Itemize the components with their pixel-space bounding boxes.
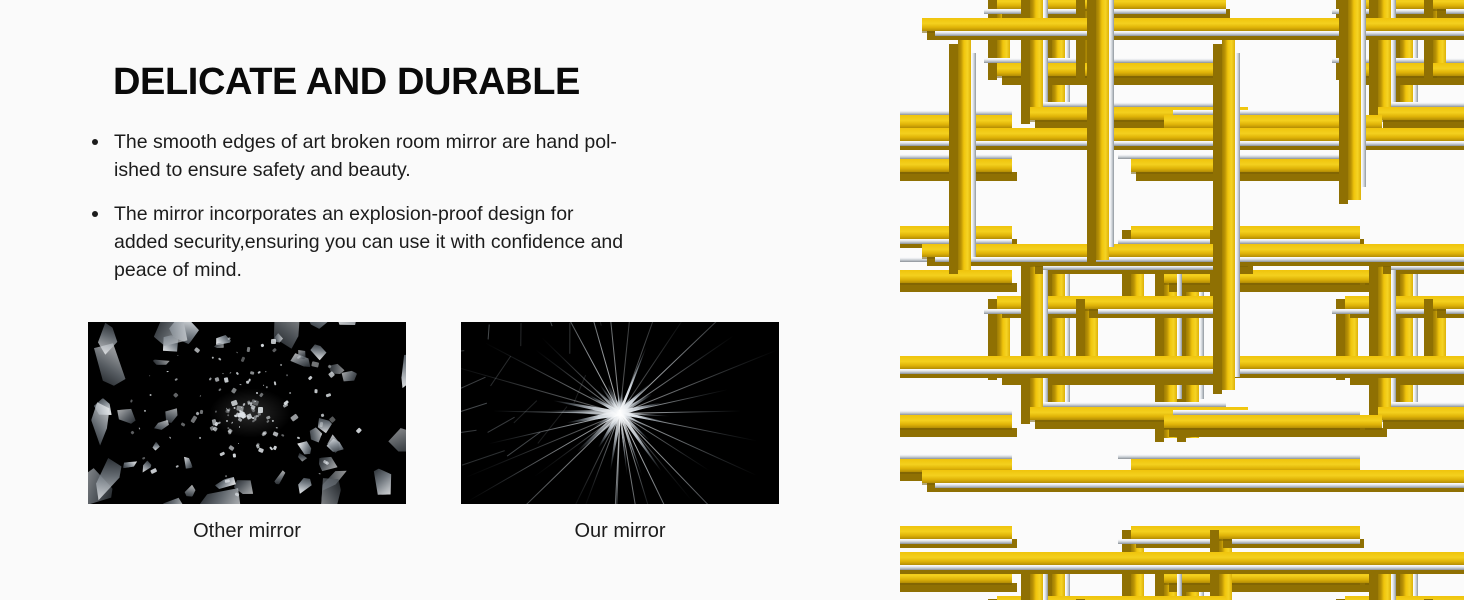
mirror-surface-horizontal (1177, 110, 1360, 115)
maze-bar-vertical (1348, 0, 1361, 200)
maze-bar-horizontal (1433, 596, 1464, 600)
glass-shard (309, 342, 328, 360)
maze-bar-horizontal (1219, 226, 1360, 239)
mirror-surface-horizontal (1043, 402, 1226, 407)
caption-other-mirror: Other mirror (88, 518, 406, 544)
mirror-surface-horizontal (900, 454, 1012, 459)
mirror-surface-horizontal (1043, 102, 1226, 107)
maze-bar-horizontal (1219, 526, 1360, 539)
glass-speck (225, 479, 230, 482)
bullet-dot-icon (92, 139, 98, 145)
maze-bar-horizontal (922, 470, 1464, 483)
crack-ring-segment (540, 322, 552, 326)
maze-bar-horizontal (1433, 296, 1464, 309)
mirror-surface-horizontal (1391, 102, 1464, 107)
crack-ring-segment (487, 417, 514, 433)
bullet-dot-icon (92, 211, 98, 217)
glass-shard (330, 322, 365, 333)
frame-shadow-face (900, 583, 1017, 592)
glass-speck (279, 364, 282, 367)
glass-speck (222, 373, 224, 375)
glass-speck (199, 436, 202, 439)
maze-bar-horizontal (1085, 596, 1226, 600)
maze-bar-horizontal (900, 128, 1464, 141)
glass-shard (302, 322, 344, 332)
frame-shadow-face (1169, 283, 1365, 292)
frame-shadow-face (1169, 428, 1365, 437)
glass-speck (315, 389, 318, 393)
glass-speck (151, 468, 158, 474)
maze-bar-vertical (1222, 40, 1235, 390)
maze-bar-vertical (1052, 252, 1065, 420)
glass-speck (227, 427, 229, 429)
glass-speck (229, 372, 231, 374)
shattered-glass-photo (88, 322, 406, 504)
glass-speck (285, 375, 288, 377)
product-feature-banner: DELICATE AND DURABLE The smooth edges of… (0, 0, 1464, 600)
glass-speck (256, 442, 260, 446)
glass-speck (307, 376, 312, 381)
glass-speck (236, 406, 243, 412)
glass-speck (264, 370, 266, 372)
glass-shard (89, 322, 124, 357)
glass-shard (320, 478, 341, 504)
glass-speck (169, 436, 171, 438)
frame-shadow-face (1369, 256, 1378, 424)
glass-speck (256, 392, 258, 394)
frame-shadow-face (1169, 583, 1365, 592)
mirror-surface-horizontal (1232, 539, 1360, 544)
mirror-surface-horizontal (900, 141, 1464, 146)
mirror-surface-horizontal (935, 483, 1464, 488)
page-title: DELICATE AND DURABLE (113, 60, 580, 104)
maze-bar-vertical (958, 40, 971, 270)
glass-speck (257, 371, 261, 375)
glass-speck (229, 445, 235, 451)
glass-speck (246, 380, 249, 384)
crack-ring-segment (461, 403, 487, 414)
glass-speck (231, 421, 233, 423)
frame-shadow-face (1213, 44, 1222, 394)
glass-speck (130, 430, 134, 434)
glass-speck (258, 448, 264, 454)
crack-ring-segment (520, 323, 521, 346)
glass-speck (320, 413, 324, 417)
maze-bar-horizontal (1433, 0, 1464, 9)
glass-speck (176, 464, 180, 468)
glass-shard (88, 346, 91, 372)
mirror-surface-horizontal (935, 257, 1464, 262)
maze-bar-vertical (1096, 0, 1109, 260)
maze-bar-horizontal (1164, 415, 1360, 428)
glass-speck (175, 377, 179, 380)
crack-ring-segment (461, 430, 477, 435)
glass-speck (250, 371, 254, 374)
glass-speck (297, 437, 301, 440)
crack-line (620, 410, 741, 414)
glass-speck (271, 339, 276, 344)
glass-speck (356, 427, 362, 433)
maze-bar-horizontal (1378, 407, 1464, 420)
glass-shard (112, 407, 135, 426)
glass-speck (312, 361, 320, 367)
glass-speck (251, 417, 253, 419)
glass-speck (233, 454, 236, 458)
glass-speck (272, 445, 277, 450)
mirror-surface-vertical (1043, 265, 1048, 407)
crack-ring-segment (488, 324, 490, 339)
maze-bar-horizontal (900, 356, 1464, 369)
glass-shard (381, 425, 406, 457)
mirror-surface-vertical (1109, 0, 1114, 247)
glass-speck (238, 443, 239, 444)
bullet-line: The mirror incorporates an explosion-pro… (114, 200, 713, 228)
glass-speck (194, 347, 200, 353)
mirror-surface-horizontal (1098, 9, 1226, 14)
glass-speck (181, 422, 186, 427)
glass-speck (173, 392, 179, 398)
glass-speck (326, 393, 332, 398)
maze-bar-horizontal (900, 415, 1012, 428)
mirror-surface-vertical (1065, 265, 1070, 407)
glass-shard (119, 497, 158, 504)
frame-shadow-face (900, 428, 1017, 437)
glass-speck (218, 358, 221, 361)
cracked-glass-photo (461, 322, 779, 504)
glass-speck (208, 378, 211, 381)
maze-bar-horizontal (922, 244, 1464, 257)
crack-ring-segment (461, 377, 486, 393)
mirror-surface-horizontal (1446, 58, 1464, 63)
glass-shard (152, 358, 169, 366)
maze-bar-vertical (1030, 252, 1043, 420)
maze-bar-horizontal (1085, 296, 1226, 309)
glass-shard (152, 441, 162, 451)
glass-shard (122, 460, 137, 468)
glass-speck (215, 377, 220, 382)
bullet-line: added security,ensuring you can use it w… (114, 228, 713, 256)
glass-speck (150, 394, 152, 396)
glass-speck (200, 395, 202, 397)
glass-shard (373, 467, 395, 496)
glass-speck (262, 431, 267, 435)
bullet-line: The smooth edges of art broken room mirr… (114, 128, 713, 156)
frame-shadow-face (949, 44, 958, 274)
glass-speck (235, 372, 239, 376)
mirror-surface-horizontal (900, 565, 1464, 570)
mirror-surface-horizontal (1446, 9, 1464, 14)
glass-speck (273, 381, 276, 385)
mirror-surface-horizontal (1391, 402, 1464, 407)
mirror-surface-horizontal (1098, 309, 1226, 314)
comparison-cell-our: Our mirror (461, 322, 779, 544)
bullet-line: ished to ensure safety and beauty. (114, 156, 713, 184)
glass-shard (265, 322, 309, 353)
glass-speck (260, 344, 264, 348)
mirror-surface-vertical (971, 53, 976, 257)
frame-shadow-face (1383, 420, 1464, 429)
crack-ring-segment (461, 350, 464, 353)
maze-bar-vertical (1378, 252, 1391, 420)
mirror-surface-vertical (1361, 0, 1366, 187)
feature-bullet-list: The smooth edges of art broken room mirr… (88, 128, 713, 284)
glass-speck (220, 452, 226, 457)
maze-bar-horizontal (1433, 63, 1464, 76)
glass-speck (224, 377, 229, 382)
maze-bar-horizontal (900, 552, 1464, 565)
mirror-surface-horizontal (900, 410, 1012, 415)
comparison-gallery: Other mirror Our mirror (88, 322, 780, 562)
comparison-cell-other: Other mirror (88, 322, 406, 544)
glass-speck (139, 428, 141, 430)
glass-shard (160, 494, 189, 504)
caption-our-mirror: Our mirror (461, 518, 779, 544)
glass-speck (247, 347, 251, 352)
mirror-surface-vertical (1391, 0, 1396, 107)
glass-shard (388, 344, 406, 394)
maze-bar-horizontal (1164, 115, 1360, 128)
glass-shard (273, 470, 287, 486)
mirror-surface-vertical (1391, 265, 1396, 407)
list-item: The smooth edges of art broken room mirr… (88, 128, 713, 184)
glass-speck (130, 400, 133, 403)
maze-bar-vertical (1400, 252, 1413, 420)
frame-shadow-face (1021, 256, 1030, 424)
glass-speck (200, 410, 204, 414)
glass-shard (183, 484, 198, 499)
glass-shard (296, 453, 309, 464)
mirror-surface-horizontal (1098, 58, 1226, 63)
frame-shadow-face (900, 283, 1017, 292)
maze-bar-horizontal (1378, 107, 1464, 120)
mirror-surface-horizontal (1177, 410, 1360, 415)
content-column: DELICATE AND DURABLE The smooth edges of… (0, 0, 900, 600)
list-item: The mirror incorporates an explosion-pro… (88, 200, 713, 284)
glass-speck (258, 407, 263, 413)
glass-speck (149, 375, 150, 376)
frame-shadow-face (1087, 0, 1096, 264)
mirror-surface-horizontal (935, 31, 1464, 36)
glass-speck (227, 414, 229, 416)
mirror-surface-horizontal (900, 369, 1464, 374)
glass-speck (228, 337, 231, 339)
mirror-surface-horizontal (1232, 454, 1360, 459)
glass-speck (271, 419, 274, 422)
mirror-surface-vertical (1043, 0, 1048, 107)
glass-speck (236, 352, 239, 354)
glass-speck (241, 357, 245, 362)
glass-speck (177, 355, 178, 356)
mirror-surface-vertical (1413, 265, 1418, 407)
glass-speck (240, 384, 242, 386)
glass-speck (142, 457, 146, 460)
glass-speck (212, 357, 214, 360)
glass-speck (272, 348, 276, 352)
glass-speck (224, 475, 227, 478)
glass-speck (318, 473, 320, 475)
glass-shard (294, 475, 316, 496)
glass-shard (182, 455, 193, 469)
maze-bar-horizontal (900, 526, 1012, 539)
maze-bar-horizontal (922, 18, 1464, 31)
product-image-maze-mirror (900, 0, 1464, 600)
mirror-surface-horizontal (900, 539, 1012, 544)
bullet-line: peace of mind. (114, 256, 713, 284)
glass-speck (167, 371, 169, 372)
glass-speck (144, 410, 146, 412)
glass-speck (191, 416, 198, 424)
glass-speck (263, 384, 264, 385)
frame-shadow-face (1437, 76, 1464, 85)
mirror-surface-horizontal (1446, 309, 1464, 314)
frame-shadow-face (1339, 0, 1348, 204)
mirror-surface-vertical (1235, 53, 1240, 377)
crack-ring-segment (569, 323, 570, 354)
